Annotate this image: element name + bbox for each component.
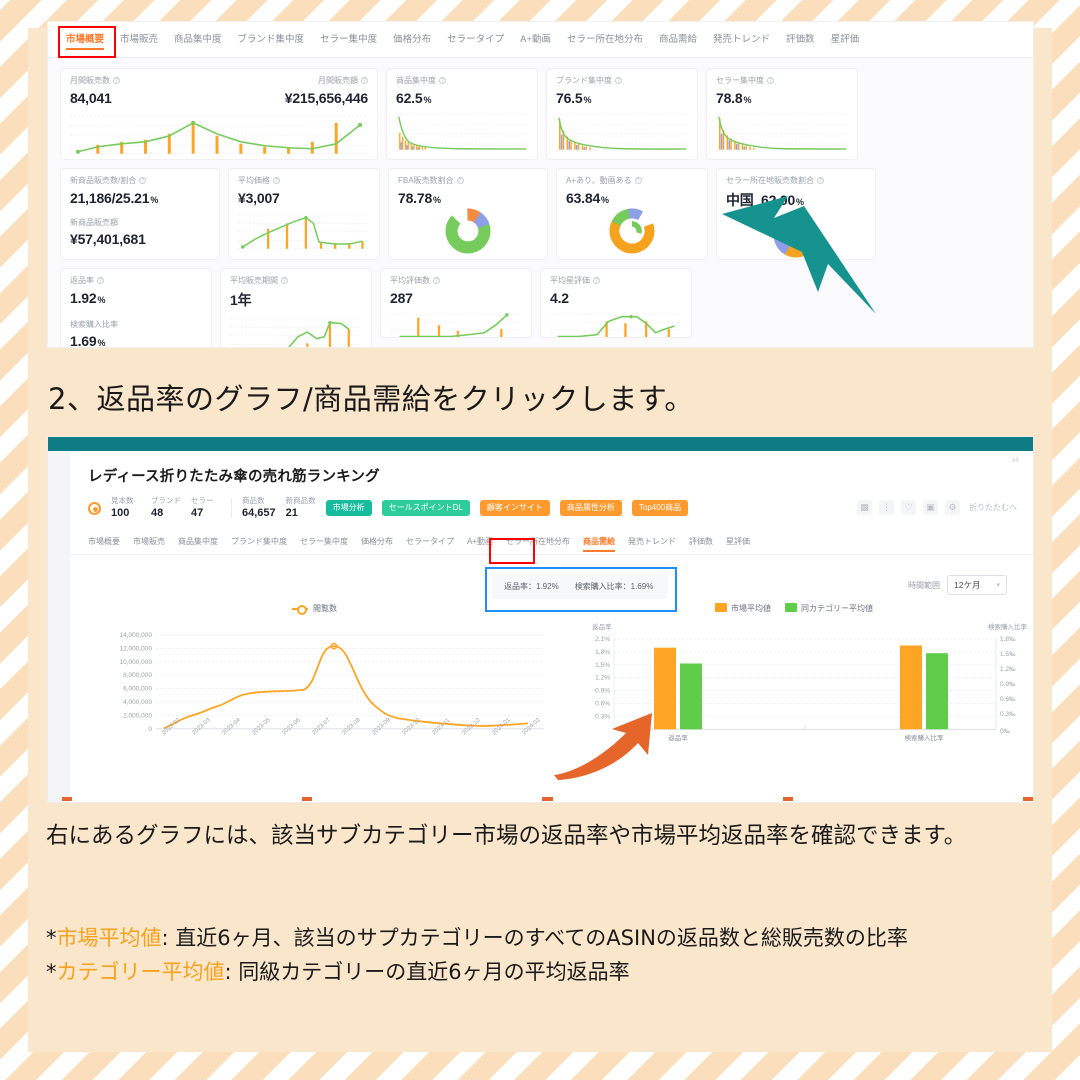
- tab-seller-concentration[interactable]: セラー集中度: [300, 536, 348, 547]
- card-value-new-sales: 21,186/25.21%: [70, 190, 210, 206]
- card-label-brand-concentration: ブランド集中度?: [556, 76, 688, 86]
- svg-text:2023-05: 2023-05: [251, 717, 272, 737]
- time-range-label: 時間範囲: [908, 580, 940, 591]
- kpi-inline-box: 返品率：1.92% 検索購入比率：1.69%: [492, 574, 668, 599]
- category-icon: [88, 502, 101, 515]
- stat-product-count: 商品数 64,657: [242, 496, 276, 520]
- card-label-average-reviews: 平均評価数?: [390, 276, 522, 286]
- svg-text:6,000,000: 6,000,000: [123, 686, 152, 693]
- card-brand-concentration[interactable]: ブランド集中度? 76.5%: [546, 68, 698, 160]
- sparkline-average-reviews: [390, 312, 522, 338]
- bar-return-category[interactable]: [680, 664, 702, 730]
- info-icon[interactable]: ?: [281, 277, 288, 284]
- axis-title-left: 返品率: [592, 622, 612, 631]
- card-label-monthly-amount: 月間販売額?: [318, 76, 368, 86]
- card-label-fba: FBA販売数割合?: [398, 176, 538, 186]
- gear-icon[interactable]: ⚙: [945, 500, 960, 515]
- info-icon[interactable]: ?: [593, 277, 600, 284]
- axis-title-right: 検索購入比率: [988, 622, 1028, 631]
- info-icon[interactable]: ?: [439, 77, 446, 84]
- svg-text:0.3‰: 0.3‰: [1000, 711, 1016, 718]
- info-icon[interactable]: ?: [273, 177, 280, 184]
- donut-chart-aplus: [609, 208, 655, 254]
- card-value-search-buy-ratio: 1.69%: [70, 333, 202, 347]
- note-term-market-average: 市場平均値: [57, 926, 162, 950]
- nav-item-brand-concentration[interactable]: ブランド集中度: [238, 35, 305, 45]
- nav-item-seller-concentration[interactable]: セラー集中度: [320, 35, 377, 45]
- card-label-aplus: A+あり、動画ある?: [566, 176, 698, 186]
- top-nav-bar[interactable]: 市場概要 市場販売 商品集中度 ブランド集中度 セラー集中度 価格分布 セラータ…: [48, 22, 1033, 58]
- left-rail: [48, 451, 70, 802]
- svg-text:0.6%: 0.6%: [595, 701, 610, 708]
- info-icon[interactable]: ?: [361, 77, 368, 84]
- sparkline-seller-concentration: [716, 112, 848, 152]
- card-label-average-period: 平均販売期間?: [230, 276, 362, 286]
- svg-text:2024-02: 2024-02: [521, 717, 542, 737]
- more-icon[interactable]: ⋮: [879, 500, 894, 515]
- card-value-brand-concentration: 76.5%: [556, 90, 688, 106]
- charts-area: 返品率：1.92% 検索購入比率：1.69% 時間範囲 12ケ月 ▾ 閲覧数: [70, 555, 1033, 800]
- button-product-attribute-analysis[interactable]: 商品属性分析: [560, 500, 622, 516]
- kpi-search-buy-ratio: 検索購入比率：1.69%: [575, 581, 654, 592]
- nav-item-seller-location[interactable]: セラー所在地分布: [567, 35, 643, 45]
- grid-icon[interactable]: ▩: [857, 500, 872, 515]
- notes-block: *市場平均値: 直近6ヶ月、該当のサプカテゴリーのすべてのASINの返品数と総販…: [46, 922, 1046, 989]
- sparkline-average-period: [230, 316, 362, 347]
- sparkline-brand-concentration: [556, 112, 688, 152]
- card-value-new-amount: ¥57,401,681: [70, 231, 210, 247]
- info-icon[interactable]: ?: [817, 177, 824, 184]
- time-range-select[interactable]: 12ケ月 ▾: [947, 575, 1007, 595]
- card-value-average-period: 1年: [230, 290, 362, 310]
- card-label-average-stars: 平均星評価?: [550, 276, 682, 286]
- product-supply-demand-panel: v4 レディース折りたたみ傘の売れ筋ランキング 見本数 100 ブランド 48 …: [48, 437, 1033, 802]
- tab-product-concentration[interactable]: 商品集中度: [178, 536, 218, 547]
- card-label-monthly-count: 月間販売数?: [70, 76, 120, 86]
- svg-text:1.2%: 1.2%: [595, 675, 610, 682]
- button-customer-insight[interactable]: 顧客インサイト: [480, 500, 550, 516]
- tab-review-count[interactable]: 評価数: [689, 536, 713, 547]
- svg-text:2023-04: 2023-04: [221, 717, 242, 737]
- panel-footer-marks: [48, 793, 1033, 803]
- svg-text:2023-03: 2023-03: [191, 717, 212, 737]
- legend-views[interactable]: 閲覧数: [292, 603, 337, 614]
- card-label-seller-location: セラー所在地販売数割合?: [726, 176, 866, 186]
- tab-market-overview[interactable]: 市場概要: [88, 536, 120, 547]
- card-label-new-sales: 新商品販売数/割合?: [70, 176, 210, 186]
- svg-text:4,000,000: 4,000,000: [123, 699, 152, 706]
- card-return-rate[interactable]: 返品率? 1.92% 検索購入比率 1.69%: [60, 268, 212, 347]
- card-label-search-buy-ratio: 検索購入比率: [70, 320, 202, 330]
- svg-text:2023-06: 2023-06: [281, 717, 302, 737]
- bar-search-market[interactable]: [900, 646, 922, 730]
- card-label-return-rate: 返品率?: [70, 276, 202, 286]
- legend-item-market-average[interactable]: 市場平均値: [715, 603, 771, 614]
- nav-item-price-distribution[interactable]: 価格分布: [393, 35, 431, 45]
- svg-text:1.2‰: 1.2‰: [1000, 666, 1016, 673]
- tab-seller-type[interactable]: セラータイプ: [406, 536, 454, 547]
- tab-price-distribution[interactable]: 価格分布: [361, 536, 393, 547]
- collapse-toggle[interactable]: 折りたたむへ: [969, 502, 1017, 513]
- nav-item-market-sales[interactable]: 市場販売: [120, 35, 158, 45]
- info-icon[interactable]: ?: [635, 177, 642, 184]
- svg-text:2023-07: 2023-07: [311, 717, 332, 737]
- tab-brand-concentration[interactable]: ブランド集中度: [231, 536, 287, 547]
- tab-supply-demand[interactable]: 商品需給: [583, 536, 615, 547]
- xaxis-label-search-ratio: 検索購入比率: [905, 733, 945, 742]
- stat-new-product-count: 新商品数 21: [286, 496, 316, 520]
- tab-launch-trend[interactable]: 発売トレンド: [628, 536, 676, 547]
- nav-item-supply-demand[interactable]: 商品需給: [659, 35, 697, 45]
- toolbar-icons: ▩ ⋮ ♡ ▣ ⚙ 折りたたむへ: [857, 500, 1017, 515]
- step-heading: 2、返品率のグラフ/商品需給をクリックします。: [48, 376, 694, 418]
- button-top400-products[interactable]: Top400商品: [632, 500, 688, 516]
- note-term-category-average: カテゴリー平均値: [57, 960, 225, 984]
- card-label-average-price: 平均価格?: [238, 176, 370, 186]
- ranking-title: レディース折りたたみ傘の売れ筋ランキング: [70, 451, 1033, 486]
- svg-text:2023-11: 2023-11: [431, 717, 452, 736]
- panel-header-bar: [48, 437, 1033, 451]
- description-paragraph: 右にあるグラフには、該当サブカテゴリー市場の返品率や市場平均返品率を確認できます…: [46, 820, 1046, 853]
- info-icon[interactable]: ?: [113, 77, 120, 84]
- legend-swatch-market: [715, 603, 727, 612]
- stat-divider: [231, 498, 232, 518]
- svg-text:2.1%: 2.1%: [595, 636, 610, 643]
- legend-label-views: 閲覧数: [313, 603, 337, 614]
- info-icon[interactable]: ?: [767, 77, 774, 84]
- sparkline-monthly-sales: [70, 112, 368, 156]
- svg-text:8,000,000: 8,000,000: [123, 672, 152, 679]
- svg-text:0.9‰: 0.9‰: [1000, 681, 1016, 688]
- annotation-arrow-orange: [552, 709, 662, 781]
- card-value-return-rate: 1.92%: [70, 290, 202, 306]
- svg-text:10,000,000: 10,000,000: [119, 659, 152, 666]
- svg-text:2023-09: 2023-09: [371, 717, 392, 737]
- nav-item-aplus-video[interactable]: A+動画: [520, 35, 551, 45]
- card-label-new-amount: 新商品販売額: [70, 218, 210, 228]
- card-monthly-sales[interactable]: 月間販売数? 84,041 月間販売額? ¥215,656,446: [60, 68, 378, 160]
- svg-text:1.8%: 1.8%: [595, 649, 610, 656]
- svg-text:0‰: 0‰: [1000, 728, 1011, 735]
- card-value-average-stars: 4.2: [550, 290, 682, 306]
- panel-nav-bar[interactable]: 市場概要 市場販売 商品集中度 ブランド集中度 セラー集中度 価格分布 セラータ…: [70, 529, 1033, 555]
- card-aplus-video[interactable]: A+あり、動画ある? 63.84%: [556, 168, 708, 260]
- svg-text:2023-08: 2023-08: [341, 717, 362, 737]
- card-value-average-price: ¥3,007: [238, 190, 370, 206]
- legend-line-marker: [292, 608, 308, 610]
- svg-text:0.9%: 0.9%: [595, 688, 610, 695]
- tab-aplus-video[interactable]: A+動画: [467, 536, 493, 547]
- card-average-price[interactable]: 平均価格? ¥3,007: [228, 168, 380, 260]
- bar-search-category[interactable]: [926, 653, 948, 729]
- sparkline-product-concentration: [396, 112, 528, 152]
- annotation-cursor-teal: [716, 192, 886, 327]
- card-value-monthly-count: 84,041: [70, 90, 120, 106]
- button-sales-point-dl[interactable]: セールスポイントDL: [382, 500, 470, 516]
- donut-chart-fba: [445, 208, 491, 254]
- stat-brand-count: ブランド 48: [151, 496, 181, 520]
- stat-sample-count: 見本数 100: [111, 496, 141, 520]
- card-label-product-concentration: 商品集中度?: [396, 76, 528, 86]
- info-icon[interactable]: ?: [139, 177, 146, 184]
- version-label: v4: [1012, 457, 1019, 464]
- nav-item-review-count[interactable]: 評価数: [786, 35, 815, 45]
- nav-item-launch-trend[interactable]: 発売トレンド: [713, 35, 770, 45]
- svg-text:1.5%: 1.5%: [595, 662, 610, 669]
- card-value-fba: 78.78%: [398, 190, 538, 206]
- time-range-control: 時間範囲 12ケ月 ▾: [908, 575, 1007, 595]
- card-new-product-sales[interactable]: 新商品販売数/割合? 21,186/25.21% 新商品販売額 ¥57,401,…: [60, 168, 220, 260]
- xaxis-label-return-rate: 返品率: [668, 733, 688, 742]
- card-value-aplus: 63.84%: [566, 190, 698, 206]
- stat-seller-count: セラー 47: [191, 496, 221, 520]
- legend-swatch-category: [785, 603, 797, 612]
- card-average-star-rating[interactable]: 平均星評価? 4.2: [540, 268, 692, 338]
- svg-text:12,000,000: 12,000,000: [119, 645, 152, 652]
- note-category-average: *カテゴリー平均値: 同級カテゴリーの直近6ヶ月の平均返品率: [46, 956, 1046, 990]
- svg-text:0.6‰: 0.6‰: [1000, 696, 1016, 703]
- time-range-value: 12ケ月: [954, 579, 980, 591]
- svg-text:2,000,000: 2,000,000: [123, 712, 152, 719]
- card-label-seller-concentration: セラー集中度?: [716, 76, 848, 86]
- legend-bar-chart[interactable]: 市場平均値 同カテゴリー平均値: [715, 603, 873, 614]
- summary-stats-row: 見本数 100 ブランド 48 セラー 47 商品数 64,657: [70, 486, 1033, 520]
- tab-seller-location[interactable]: セラー所在地分布: [506, 536, 570, 547]
- legend-item-category-average[interactable]: 同カテゴリー平均値: [785, 603, 873, 614]
- nav-item-product-concentration[interactable]: 商品集中度: [174, 35, 222, 45]
- card-value-seller-concentration: 78.8%: [716, 90, 848, 106]
- svg-text:0: 0: [148, 726, 152, 733]
- chevron-down-icon: ▾: [996, 581, 1000, 589]
- svg-text:14,000,000: 14,000,000: [119, 632, 152, 639]
- tab-star-rating[interactable]: 星評価: [726, 536, 750, 547]
- card-seller-concentration[interactable]: セラー集中度? 78.8%: [706, 68, 858, 160]
- card-average-review-count[interactable]: 平均評価数? 287: [380, 268, 532, 338]
- info-icon[interactable]: ?: [97, 277, 104, 284]
- views-line-chart[interactable]: 14,000,000 12,000,000 10,000,000 8,000,0…: [84, 617, 554, 792]
- svg-text:2024-01: 2024-01: [491, 717, 512, 737]
- note-market-average: *市場平均値: 直近6ヶ月、該当のサプカテゴリーのすべてのASINの返品数と総販…: [46, 922, 1046, 956]
- info-icon[interactable]: ?: [433, 277, 440, 284]
- card-average-sales-period[interactable]: 平均販売期間? 1年: [220, 268, 372, 347]
- info-icon[interactable]: ?: [457, 177, 464, 184]
- card-value-monthly-amount: ¥215,656,446: [285, 90, 368, 106]
- card-value-product-concentration: 62.5%: [396, 90, 528, 106]
- card-product-concentration[interactable]: 商品集中度? 62.5%: [386, 68, 538, 160]
- kpi-return-rate: 返品率：1.92%: [504, 581, 559, 592]
- svg-text:1.5‰: 1.5‰: [1000, 651, 1016, 658]
- button-market-analysis[interactable]: 市場分析: [326, 500, 372, 516]
- heart-icon[interactable]: ♡: [901, 500, 916, 515]
- nav-item-star-rating[interactable]: 星評価: [831, 35, 860, 45]
- nav-item-seller-type[interactable]: セラータイプ: [447, 35, 504, 45]
- svg-text:1.8‰: 1.8‰: [1000, 636, 1016, 643]
- sparkline-average-stars: [550, 312, 682, 338]
- tab-market-sales[interactable]: 市場販売: [133, 536, 165, 547]
- sparkline-average-price: [238, 212, 370, 252]
- nav-item-market-overview[interactable]: 市場概要: [66, 35, 104, 45]
- svg-text:2023-02: 2023-02: [161, 717, 182, 737]
- info-icon[interactable]: ?: [615, 77, 622, 84]
- video-icon[interactable]: ▣: [923, 500, 938, 515]
- card-fba-ratio[interactable]: FBA販売数割合? 78.78%: [388, 168, 548, 260]
- card-value-average-reviews: 287: [390, 290, 522, 306]
